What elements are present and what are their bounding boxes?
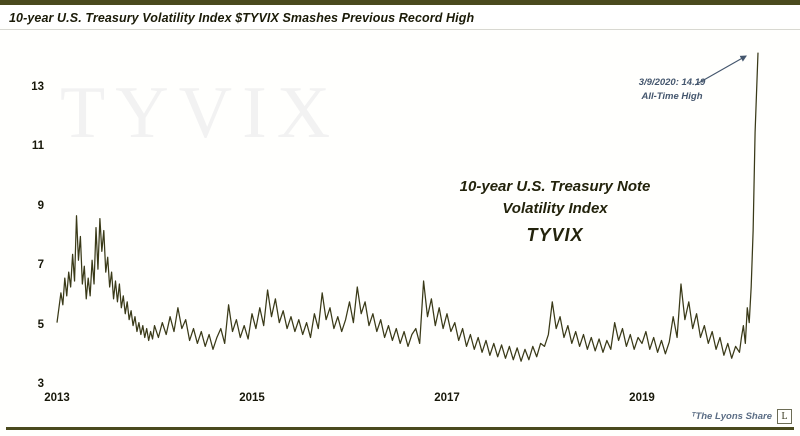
center-label-line3: TYVIX <box>430 222 680 248</box>
title-bar: 10-year U.S. Treasury Volatility Index $… <box>0 5 800 27</box>
callout-line2: All-Time High <box>624 90 720 104</box>
y-tick-label: 13 <box>14 81 44 93</box>
y-tick-label: 5 <box>14 319 44 331</box>
lyons-share-logo-icon: L <box>777 409 792 424</box>
y-axis: 35791113 <box>8 30 44 426</box>
credit-attribution: ᵀThe Lyons Share L <box>692 409 793 424</box>
center-label-line1: 10-year U.S. Treasury Note <box>430 176 680 198</box>
credit-text: ᵀThe Lyons Share <box>692 411 773 422</box>
y-tick-label: 9 <box>14 200 44 212</box>
callout-arrow-icon <box>690 50 770 90</box>
page-title: 10-year U.S. Treasury Volatility Index $… <box>9 11 474 25</box>
y-tick-label: 3 <box>14 378 44 390</box>
x-tick-label: 2017 <box>434 392 460 404</box>
y-tick-label: 11 <box>14 140 44 152</box>
x-tick-label: 2013 <box>44 392 70 404</box>
chart-center-label: 10-year U.S. Treasury Note Volatility In… <box>430 176 680 248</box>
x-axis: 2013201520172019 <box>0 392 800 412</box>
x-tick-label: 2019 <box>629 392 655 404</box>
center-label-line2: Volatility Index <box>430 198 680 220</box>
y-tick-label: 7 <box>14 259 44 271</box>
x-tick-label: 2015 <box>239 392 265 404</box>
bottom-accent-rule <box>6 427 794 430</box>
chart-page: 10-year U.S. Treasury Volatility Index $… <box>0 0 800 436</box>
